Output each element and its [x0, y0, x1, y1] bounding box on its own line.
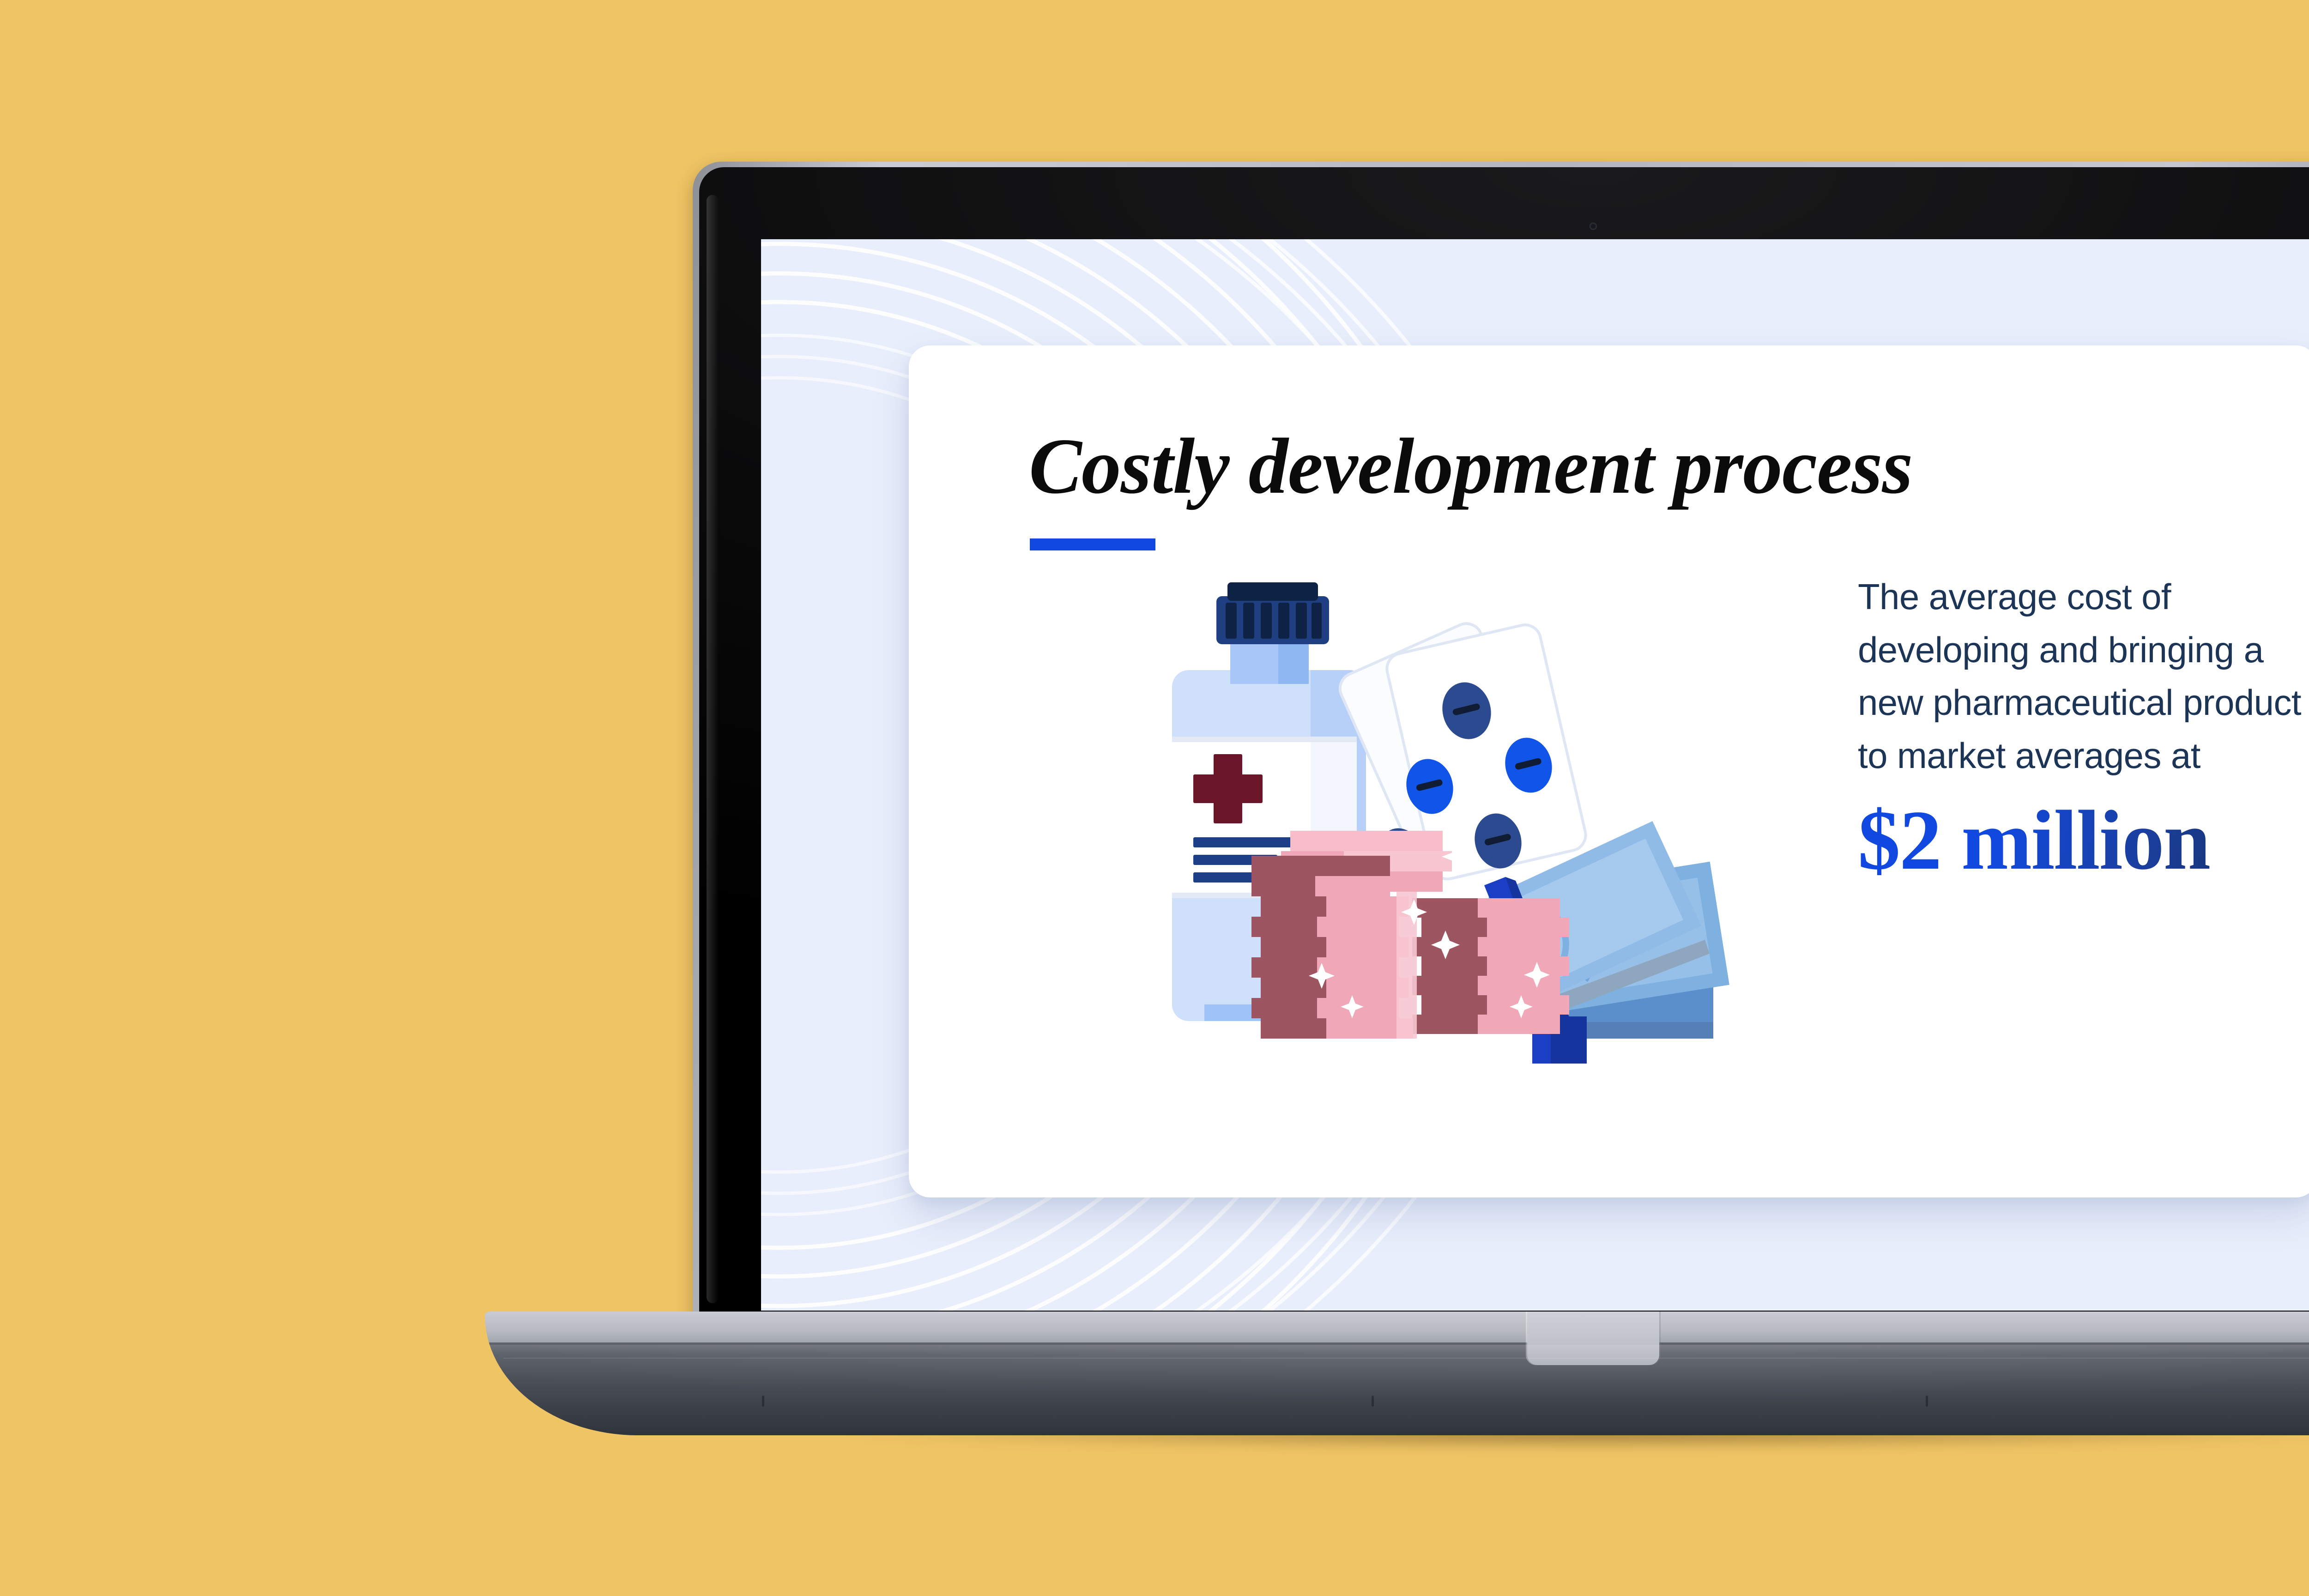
- pharma-cost-illustration: [1135, 556, 1740, 1064]
- title-accent-rule: [1030, 538, 1155, 550]
- webcam-lens-icon: [1590, 223, 1597, 230]
- slide-card: Costly development process: [909, 345, 2309, 1197]
- coin-stack-right-icon: [1412, 898, 1569, 1034]
- laptop-mockup: Costly development process: [693, 162, 2309, 1362]
- laptop-base-body: [485, 1312, 2309, 1435]
- copy-block: The average cost of developing and bring…: [1858, 570, 2309, 884]
- laptop-base-foot: [1372, 1396, 1374, 1407]
- laptop-base-foot: [1926, 1396, 1928, 1407]
- laptop-base: [485, 1312, 2309, 1459]
- headline-figure: $2 million: [1858, 796, 2309, 884]
- laptop-base-foot: [762, 1396, 764, 1407]
- body-paragraph: The average cost of developing and bring…: [1858, 570, 2309, 782]
- page-title: Costly development process: [1029, 427, 1912, 506]
- bezel-sheen-left: [707, 195, 719, 1303]
- laptop-base-top-edge: [485, 1312, 2309, 1345]
- laptop-screen: Costly development process: [761, 239, 2309, 1311]
- laptop-base-gloss: [485, 1345, 2309, 1435]
